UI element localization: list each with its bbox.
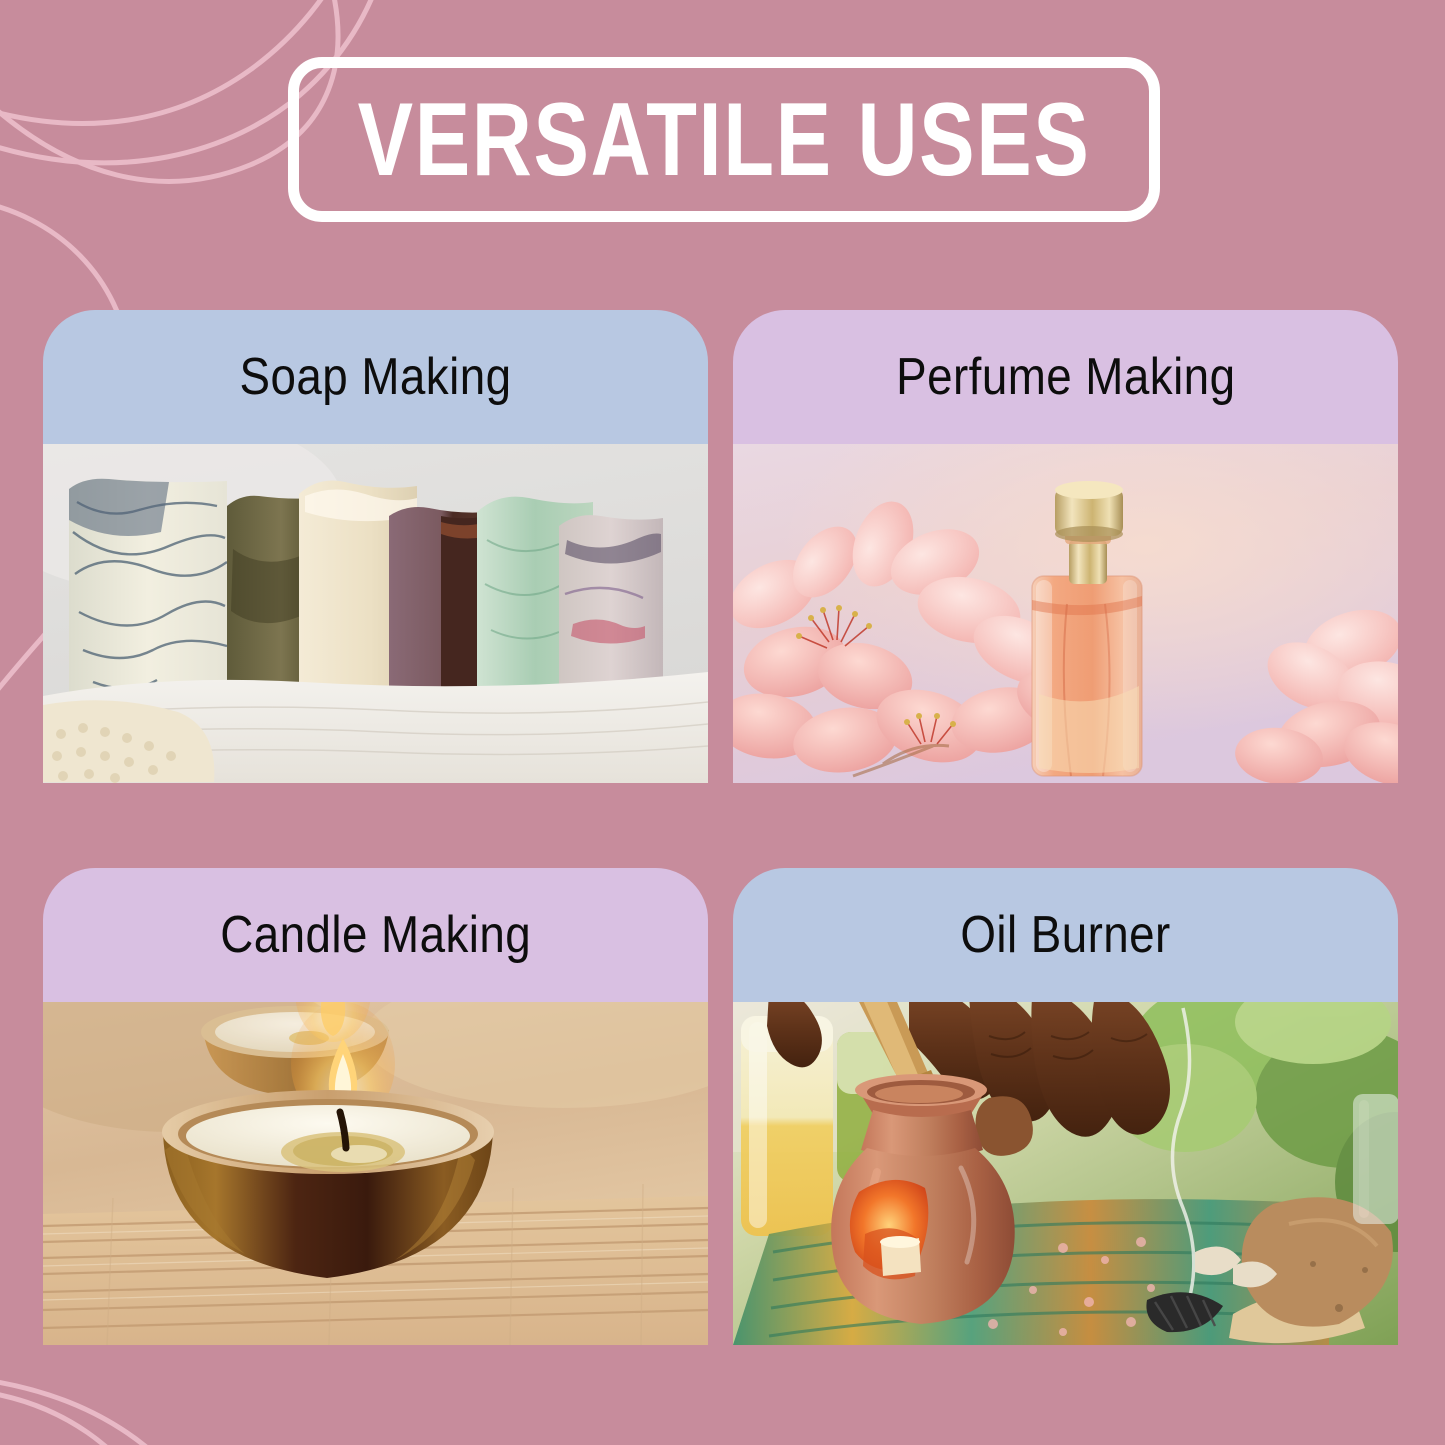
card-label-oil-burner: Oil Burner: [960, 905, 1170, 965]
card-label-candle-making: Candle Making: [220, 905, 531, 965]
card-candle-making[interactable]: Candle Making: [43, 868, 708, 1345]
card-oil-burner[interactable]: Oil Burner: [733, 868, 1398, 1345]
swirl-line-bottom-2: [0, 1378, 215, 1445]
card-perfume-making[interactable]: Perfume Making: [733, 310, 1398, 783]
page-title-box: VERSATILE USES: [288, 57, 1160, 222]
card-image-oil-burner: [733, 1002, 1398, 1345]
card-image-candle-making: [43, 1002, 708, 1345]
card-label-soap-making: Soap Making: [240, 347, 512, 407]
card-header-candle-making: Candle Making: [43, 868, 708, 1002]
card-image-soap-making: [43, 444, 708, 783]
card-header-oil-burner: Oil Burner: [733, 868, 1398, 1002]
card-label-perfume-making: Perfume Making: [896, 347, 1235, 407]
card-soap-making[interactable]: Soap Making: [43, 310, 708, 783]
card-header-soap-making: Soap Making: [43, 310, 708, 444]
card-image-perfume-making: [733, 444, 1398, 783]
card-header-perfume-making: Perfume Making: [733, 310, 1398, 444]
page-title: VERSATILE USES: [358, 88, 1091, 192]
swirl-line-bottom: [0, 1390, 160, 1445]
